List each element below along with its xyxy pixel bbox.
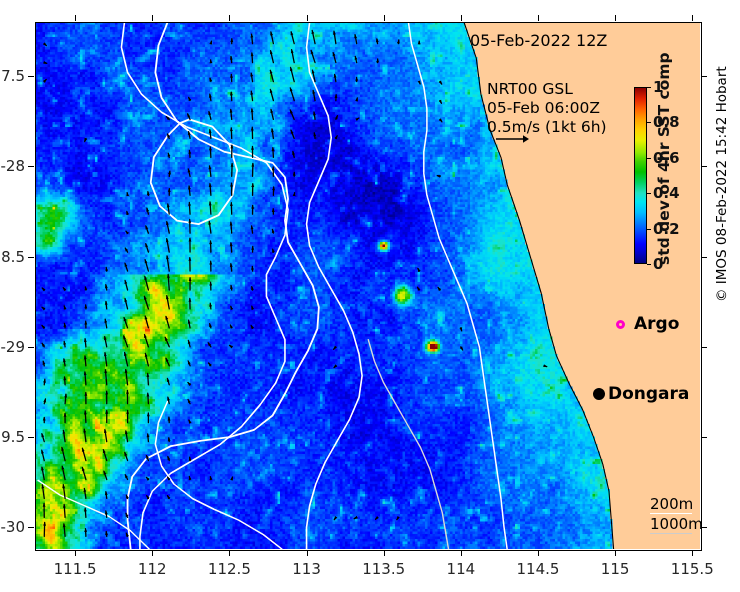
x-axis-tick-label: 114.5	[517, 560, 560, 578]
y-axis-tick	[28, 437, 34, 438]
y-axis-tick-label: -29	[1, 338, 26, 356]
colorbar-tick	[647, 158, 651, 159]
x-axis-tick	[538, 550, 539, 556]
depth-1000m-line-sample	[650, 533, 692, 534]
reference-vector-arrow-icon	[496, 133, 530, 145]
dongara-city-label: Dongara	[608, 384, 689, 404]
x-axis-tick	[229, 550, 230, 556]
product-label-line1: NRT00 GSL	[487, 80, 573, 98]
x-axis-tick-top	[152, 15, 153, 21]
depth-1000m-label: 1000m	[650, 515, 703, 533]
colorbar-tick	[647, 122, 651, 123]
date-title: 05-Feb-2022 12Z	[470, 31, 607, 50]
colorbar-axis-title: std dev of 4hr SST comp	[655, 88, 673, 265]
x-axis-tick-top	[615, 15, 616, 21]
x-axis-tick	[615, 550, 616, 556]
x-axis-tick-top	[75, 15, 76, 21]
y-axis-tick-right	[701, 76, 707, 77]
dongara-marker-icon	[593, 388, 605, 400]
depth-200m-label: 200m	[650, 495, 693, 513]
argo-marker-icon	[616, 320, 625, 329]
x-axis-tick-label: 112	[138, 560, 167, 578]
y-axis-tick-label: -29.5	[0, 428, 25, 446]
colorbar-tick	[647, 87, 651, 88]
y-axis-tick	[28, 527, 34, 528]
argo-legend-label: Argo	[634, 314, 679, 334]
figure-root: 05-Feb-2022 12Z NRT00 GSL 05-Feb 06:00Z …	[0, 0, 740, 592]
y-axis-tick	[28, 76, 34, 77]
x-axis-tick-label: 112.5	[208, 560, 251, 578]
y-axis-tick-right	[701, 437, 707, 438]
y-axis-tick	[28, 347, 34, 348]
x-axis-tick	[307, 550, 308, 556]
x-axis-tick-top	[229, 15, 230, 21]
product-label-line2: 05-Feb 06:00Z	[487, 99, 600, 117]
x-axis-tick-top	[384, 15, 385, 21]
x-axis-tick	[461, 550, 462, 556]
x-axis-tick	[384, 550, 385, 556]
y-axis-tick-label: -30	[1, 518, 26, 536]
x-axis-tick-top	[692, 15, 693, 21]
x-axis-tick-label: 111.5	[54, 560, 97, 578]
x-axis-tick	[152, 550, 153, 556]
y-axis-tick-label: -28.5	[0, 248, 25, 266]
x-axis-tick-top	[461, 15, 462, 21]
colorbar-tick	[647, 264, 651, 265]
x-axis-tick-top	[538, 15, 539, 21]
x-axis-tick	[692, 550, 693, 556]
x-axis-tick-label: 115.5	[671, 560, 714, 578]
colorbar-tick	[647, 193, 651, 194]
colorbar: 10.80.60.40.20	[634, 87, 647, 264]
x-axis-tick	[75, 550, 76, 556]
map-overlays	[35, 22, 700, 549]
x-axis-tick-top	[307, 15, 308, 21]
depth-200m-line-sample	[650, 513, 692, 514]
map-plot-area	[35, 22, 700, 549]
y-axis-tick	[28, 166, 34, 167]
y-axis-tick-right	[701, 347, 707, 348]
colorbar-gradient	[634, 87, 647, 264]
y-axis-tick-right	[701, 166, 707, 167]
y-axis-tick-label: -27.5	[0, 67, 25, 85]
y-axis-tick-right	[701, 527, 707, 528]
y-axis-tick	[28, 257, 34, 258]
y-axis-tick-right	[701, 257, 707, 258]
y-axis-tick-label: -28	[1, 157, 26, 175]
copyright-notice: © IMOS 08-Feb-2022 15:42 Hobart	[714, 66, 730, 302]
x-axis-tick-label: 113.5	[362, 560, 405, 578]
x-axis-tick-label: 113	[292, 560, 321, 578]
colorbar-tick	[647, 229, 651, 230]
x-axis-tick-label: 114	[447, 560, 476, 578]
x-axis-tick-label: 115	[601, 560, 630, 578]
